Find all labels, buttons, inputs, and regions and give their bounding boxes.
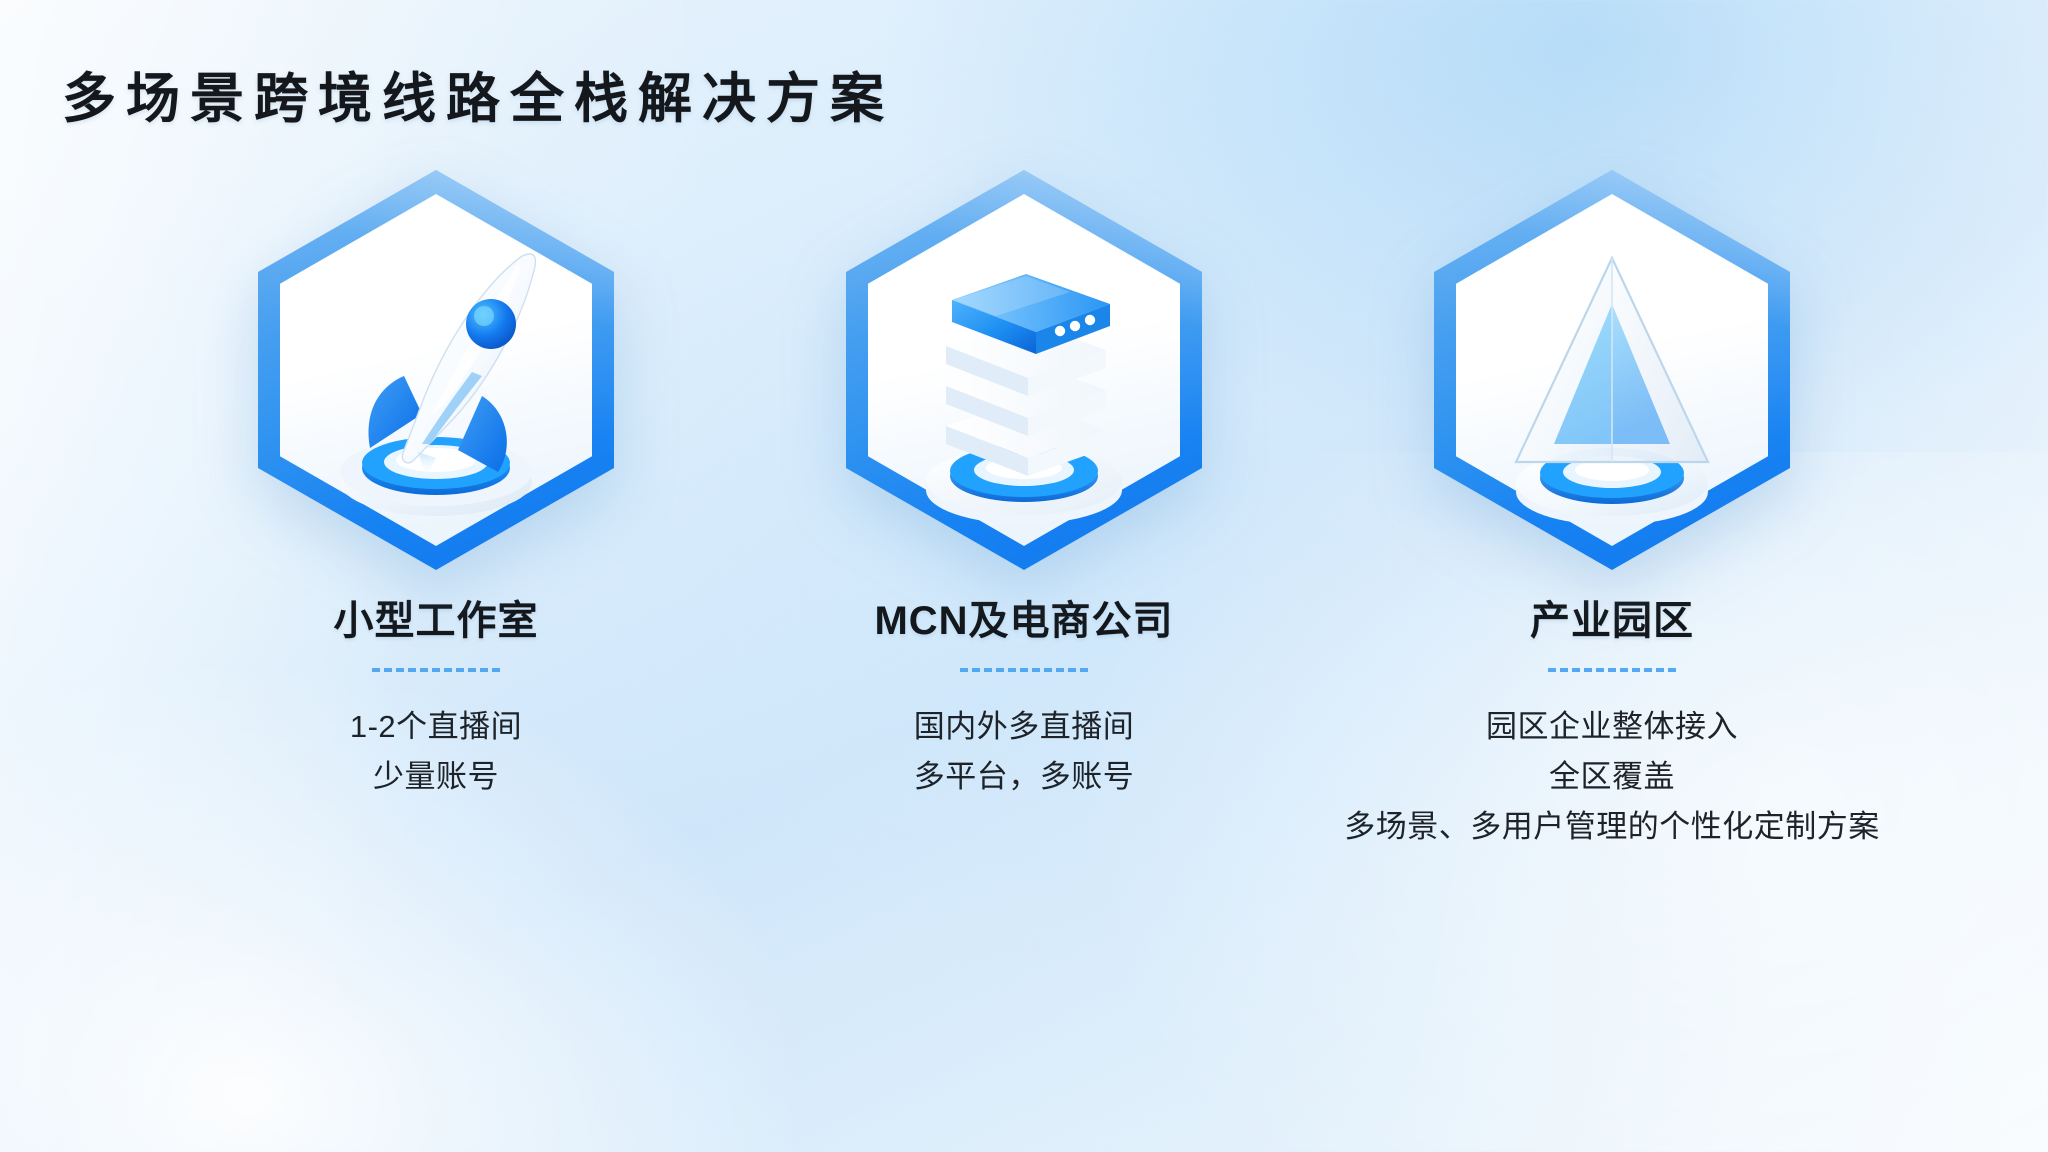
hexagon-badge	[1434, 170, 1790, 570]
card-title: 小型工作室	[334, 588, 539, 646]
card-description: 1-2个直播间 少量账号	[350, 702, 522, 802]
card-divider	[1548, 668, 1676, 672]
card-description: 园区企业整体接入 全区覆盖 多场景、多用户管理的个性化定制方案	[1344, 702, 1880, 853]
card-industrial-park[interactable]: 产业园区 园区企业整体接入 全区覆盖 多场景、多用户管理的个性化定制方案	[1377, 170, 1847, 853]
card-divider	[960, 668, 1088, 672]
card-mcn-ecommerce[interactable]: MCN及电商公司 国内外多直播间 多平台，多账号	[789, 170, 1259, 802]
card-small-studio[interactable]: 小型工作室 1-2个直播间 少量账号	[201, 170, 671, 802]
pyramid-icon	[1462, 200, 1762, 540]
hexagon-badge	[846, 170, 1202, 570]
card-title: 产业园区	[1530, 588, 1694, 646]
card-line: 园区企业整体接入	[1344, 702, 1880, 752]
card-line: 国内外多直播间	[914, 702, 1135, 752]
card-line: 全区覆盖	[1344, 752, 1880, 802]
page-title: 多场景跨境线路全栈解决方案	[62, 54, 894, 133]
solution-cards-row: 小型工作室 1-2个直播间 少量账号	[0, 170, 2048, 853]
card-divider	[372, 668, 500, 672]
card-line: 少量账号	[350, 752, 522, 802]
card-line: 多场景、多用户管理的个性化定制方案	[1344, 802, 1880, 852]
rocket-icon	[286, 200, 586, 540]
card-line: 1-2个直播间	[350, 702, 522, 752]
card-description: 国内外多直播间 多平台，多账号	[914, 702, 1135, 802]
card-title: MCN及电商公司	[874, 588, 1173, 646]
hexagon-badge	[258, 170, 614, 570]
card-line: 多平台，多账号	[914, 752, 1135, 802]
server-stack-icon	[874, 200, 1174, 540]
